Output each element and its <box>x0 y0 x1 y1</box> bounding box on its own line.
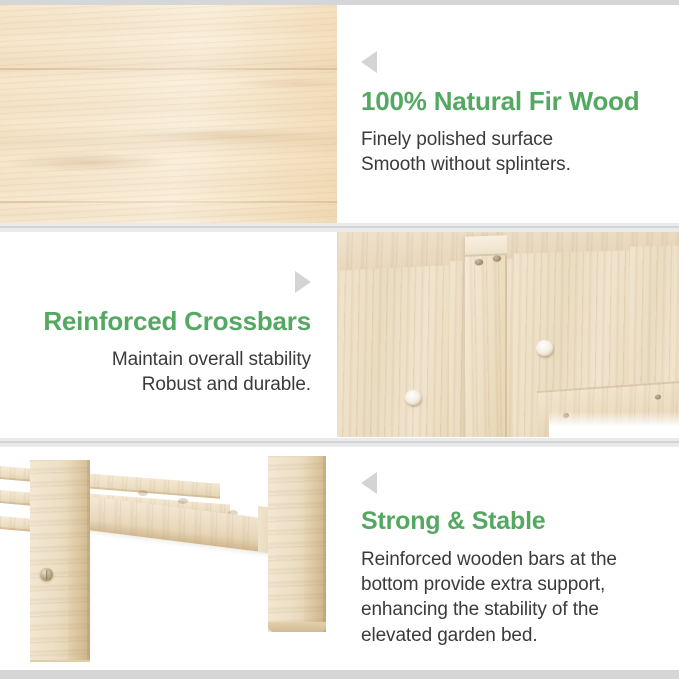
panel-body-line: Maintain overall stability <box>16 347 311 372</box>
screw-head <box>475 259 483 265</box>
triangle-left-icon <box>361 51 377 73</box>
panel-heading: Strong & Stable <box>361 507 663 537</box>
panel-body-line: Smooth without splinters. <box>361 152 663 177</box>
leg-and-support-scene <box>0 450 337 670</box>
frame-leg <box>30 460 90 670</box>
wall-plank <box>337 265 453 437</box>
triangle-right-icon <box>295 271 311 293</box>
text-block-reinforced-crossbars: Reinforced Crossbars Maintain overall st… <box>0 232 337 437</box>
row-divider-2 <box>0 438 679 447</box>
bar-shadow <box>72 517 288 555</box>
screw-head <box>493 255 501 261</box>
feature-row-reinforced-crossbars: Reinforced Crossbars Maintain overall st… <box>0 232 679 437</box>
top-edge-band <box>0 0 679 5</box>
planter-wall-image <box>337 232 679 437</box>
leg-foot <box>268 622 326 632</box>
wood-seam <box>0 68 337 70</box>
feature-row-natural-fir-wood: 100% Natural Fir Wood Finely polished su… <box>0 5 679 223</box>
frame-support-image <box>0 450 337 670</box>
floor-fade <box>549 411 679 437</box>
divider-seam <box>0 226 679 228</box>
screw-head <box>655 394 661 399</box>
text-block-natural-fir-wood: 100% Natural Fir Wood Finely polished su… <box>337 5 679 223</box>
triangle-left-icon <box>361 472 377 494</box>
text-block-strong-and-stable: Strong & Stable Reinforced wooden bars a… <box>337 450 679 670</box>
feature-row-strong-and-stable: Strong & Stable Reinforced wooden bars a… <box>0 450 679 670</box>
crossbar-top-face <box>465 235 507 257</box>
slat-hole <box>178 498 188 504</box>
wood-seam <box>0 201 337 203</box>
wood-plug <box>405 390 421 405</box>
leg-side-face <box>304 456 326 632</box>
leg-side-face <box>68 460 90 670</box>
frame-leg <box>268 456 326 632</box>
screw-head <box>40 568 53 581</box>
panel-body-line: Finely polished surface <box>361 127 663 152</box>
infographic-root: 100% Natural Fir Wood Finely polished su… <box>0 0 679 679</box>
wood-closeup-image <box>0 5 337 223</box>
divider-seam <box>0 441 679 443</box>
slat-hole <box>138 490 148 496</box>
panel-heading: 100% Natural Fir Wood <box>361 86 663 117</box>
shelf-slat <box>0 516 34 532</box>
scene-bottom-fade <box>0 662 337 670</box>
wood-plug <box>536 340 553 356</box>
panel-heading: Reinforced Crossbars <box>16 306 311 337</box>
row-divider-1 <box>0 223 679 232</box>
panel-body-line: Reinforced wooden bars at the bottom pro… <box>361 547 663 648</box>
wood-grain-texture <box>0 5 337 223</box>
reinforcing-crossbar <box>465 235 507 437</box>
bottom-edge-band <box>0 670 679 679</box>
planter-wall-scene <box>337 232 679 437</box>
panel-body-line: Robust and durable. <box>16 372 311 397</box>
